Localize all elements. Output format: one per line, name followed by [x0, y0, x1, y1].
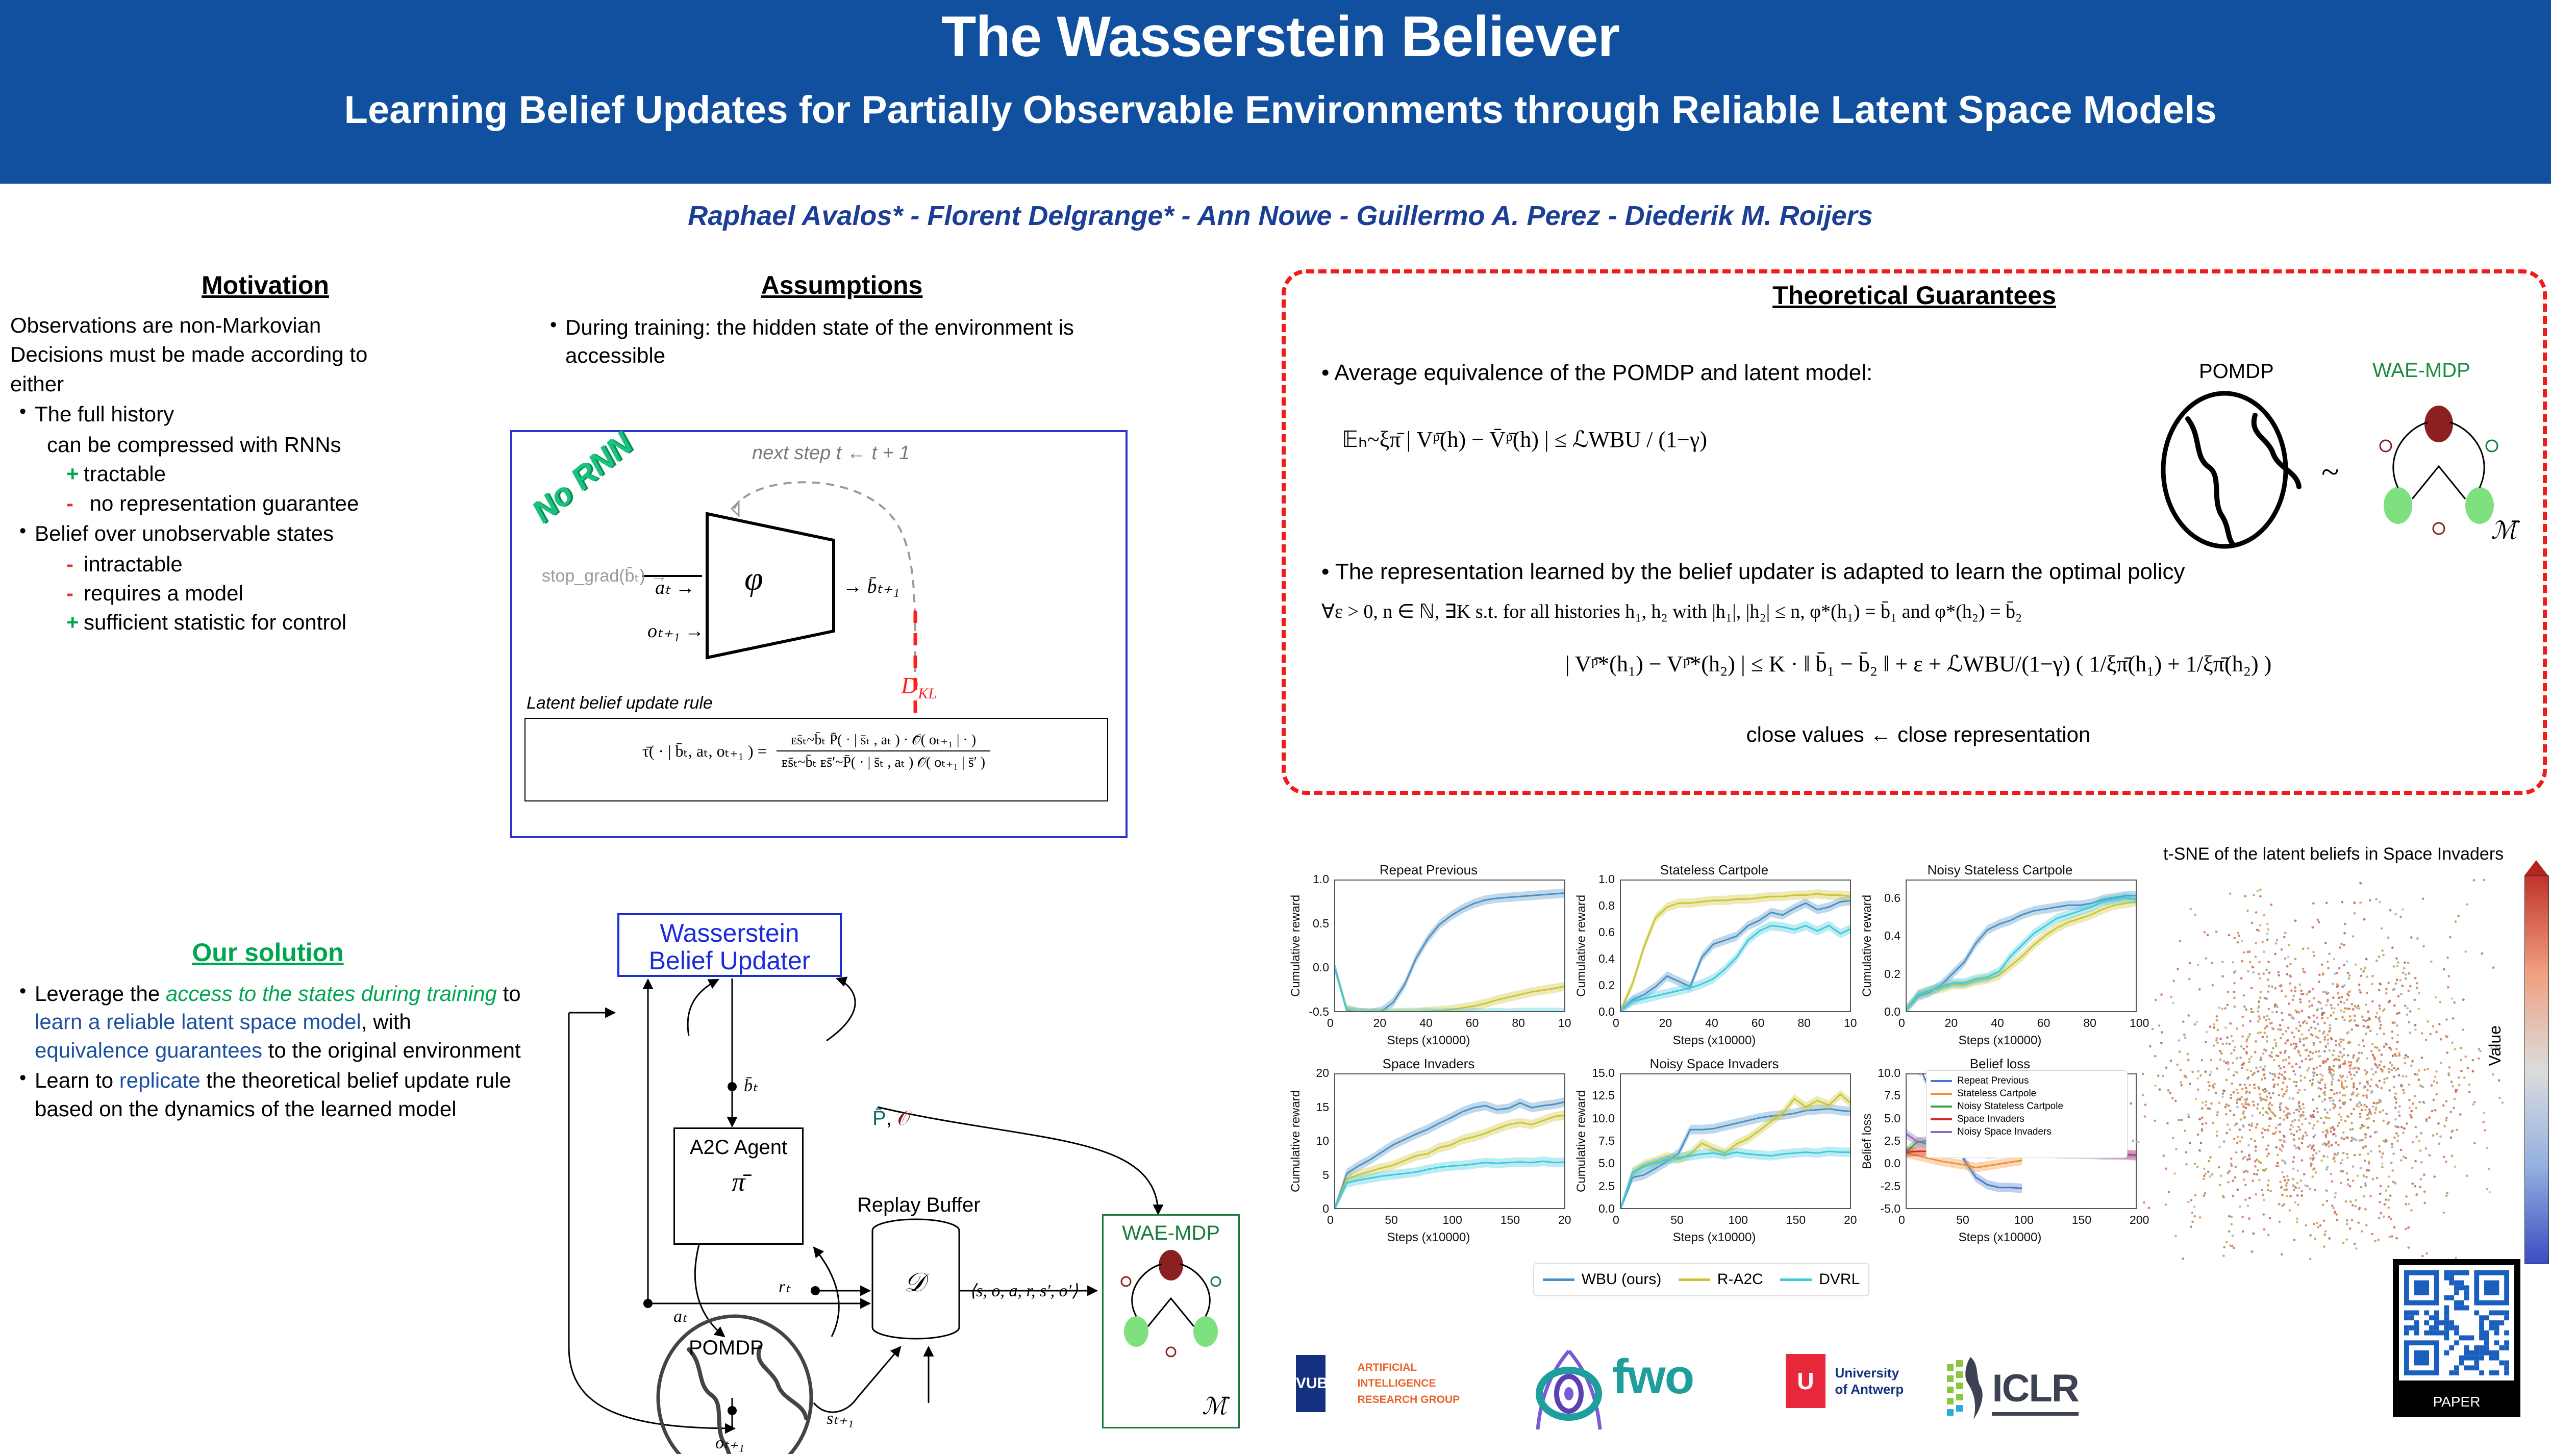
pomdp-label: POMDP — [689, 1337, 764, 1360]
theoretical-equation-3: | Vᵖ̄*(h₁) − Vᵖ̄*(h₂) | ≤ K · ‖ b̄₁ − b̄… — [1286, 651, 2551, 677]
y-axis-label: Cumulative reward — [1289, 1076, 1303, 1206]
reward-edge-label: rₜ — [779, 1276, 790, 1297]
motivation-pro-label: sufficient statistic for control — [84, 610, 346, 634]
plus-icon: + — [66, 608, 84, 636]
observation-input-label: oₜ₊₁ → — [647, 619, 704, 642]
dkl-symbol: D — [901, 672, 918, 698]
motivation-pro-tractable: +tractable — [10, 460, 520, 488]
y-axis-label: Cumulative reward — [1289, 883, 1303, 1009]
x-tick: 40 — [1419, 1016, 1433, 1030]
belief-output-label: → b̄ₜ₊₁ — [843, 575, 899, 598]
solution-text: to the original environment — [262, 1038, 521, 1062]
y-axis-label: Belief loss — [1860, 1076, 1874, 1206]
motivation-con-label: requires a model — [84, 581, 243, 605]
x-tick: 50 — [1956, 1213, 1969, 1227]
motivation-pro-label: tractable — [84, 462, 166, 486]
legend-item: Space Invaders — [1931, 1114, 2123, 1125]
a2c-label: A2C Agent — [690, 1136, 787, 1159]
legend-swatch — [1931, 1131, 1952, 1133]
x-tick: 50 — [1385, 1213, 1398, 1227]
legend-swatch — [1931, 1080, 1952, 1082]
buffer-symbol: 𝒟 — [904, 1268, 926, 1298]
x-tick: 150 — [2072, 1213, 2091, 1227]
x-tick: 20 — [1659, 1016, 1672, 1030]
legend-item: Noisy Space Invaders — [1931, 1126, 2123, 1138]
solution-emph-latent: learn a reliable latent space model — [35, 1010, 361, 1034]
x-tick: 150 — [1786, 1213, 1806, 1227]
motivation-item-label: Belief over unobservable states — [35, 521, 334, 545]
motivation-item-belief: Belief over unobservable states — [10, 519, 520, 547]
page-subtitle: Learning Belief Updates for Partially Ob… — [0, 88, 2551, 132]
legend-label: Stateless Cartpole — [1957, 1088, 2036, 1099]
legend-label: Repeat Previous — [1957, 1075, 2029, 1087]
chart-noisy-space-invaders: Noisy Space Invaders0501001502000.02.55.… — [1571, 1056, 1857, 1260]
uantwerp-line-2: of Antwerp — [1835, 1381, 1904, 1398]
minus-icon: - — [66, 579, 84, 607]
belief-update-rule-box: τ̄( · | b̄ₜ, aₜ, oₜ₊₁ ) = ᴇs̄ₜ~b̄ₜ P̄( ·… — [524, 718, 1108, 801]
legend-swatch — [1543, 1278, 1574, 1281]
dkl-subscript: KL — [918, 685, 937, 702]
x-axis-label: Steps (x10000) — [1286, 1034, 1571, 1048]
plot-area — [1334, 880, 1565, 1012]
theoretical-bullet-2: • The representation learned by the beli… — [1321, 559, 2185, 585]
legend-swatch — [1931, 1093, 1952, 1095]
logo-strip: VUB ARTIFICIAL INTELLIGENCE RESEARCH GRO… — [1275, 1337, 2296, 1439]
rule-numerator: ᴇs̄ₜ~b̄ₜ P̄( · | s̄ₜ , aₜ ) · 𝒪̄( oₜ₊₁ |… — [777, 731, 990, 751]
section-our-solution: Our solution Leverage the access to the … — [10, 938, 526, 1125]
dkl-label: DKL — [901, 672, 937, 702]
observation-edge-label: oₜ₊₁ — [715, 1433, 744, 1453]
x-tick: 60 — [1466, 1016, 1479, 1030]
solution-emph-replicate: replicate — [119, 1068, 201, 1092]
qr-code[interactable] — [2393, 1259, 2520, 1387]
belief-update-rule-equation: τ̄( · | b̄ₜ, aₜ, oₜ₊₁ ) = ᴇs̄ₜ~b̄ₜ P̄( ·… — [526, 731, 1107, 771]
chart-legend: WBU (ours) R-A2C DVRL — [1533, 1263, 1869, 1296]
section-theoretical-guarantees: Theoretical Guarantees • Average equival… — [1282, 269, 2547, 795]
legend-swatch — [1931, 1118, 1952, 1120]
motivation-con-label: intractable — [84, 552, 183, 576]
x-axis-label: Steps (x10000) — [1857, 1034, 2143, 1048]
assumptions-heading: Assumptions — [541, 270, 1143, 300]
x-tick: 60 — [1752, 1016, 1765, 1030]
motivation-heading: Motivation — [10, 270, 520, 300]
uantwerp-logo-text: University of Antwerp — [1835, 1365, 1904, 1398]
vub-logo-mark: VUB — [1296, 1355, 1325, 1412]
uantwerp-line-1: University — [1835, 1365, 1904, 1382]
solution-text: to — [497, 982, 521, 1006]
airg-line-3: RESEARCH GROUP — [1357, 1392, 1460, 1408]
chart-stateless-cartpole: Stateless Cartpole0204060801000.00.20.40… — [1571, 862, 1857, 1056]
university-of-antwerp-logo: U University of Antwerp — [1786, 1354, 1904, 1408]
x-tick: 20 — [1945, 1016, 1958, 1030]
stop-grad-label: stop_grad(b̄ₜ) → — [542, 566, 667, 586]
action-input-label: aₜ → — [655, 576, 695, 599]
theoretical-heading: Theoretical Guarantees — [1286, 281, 2543, 310]
qr-code-label: PAPER — [2393, 1387, 2520, 1417]
motivation-con-intractable: -intractable — [10, 550, 520, 578]
airg-line-1: ARTIFICIAL — [1357, 1360, 1460, 1376]
uantwerp-logo-mark: U — [1786, 1354, 1825, 1408]
chart-title: Noisy Stateless Cartpole — [1857, 862, 2143, 878]
motivation-item-label: The full history — [35, 402, 174, 426]
legend-swatch — [1931, 1106, 1952, 1108]
action-edge-label: aₜ — [673, 1306, 687, 1326]
solution-bullet-1: Leverage the access to the states during… — [10, 980, 526, 1064]
rule-denominator: ᴇs̄ₜ~b̄ₜ ᴇs̄′~P̄( · | s̄ₜ , aₜ ) 𝒪̄( oₜ₊… — [777, 751, 990, 771]
replay-buffer-label: Replay Buffer — [857, 1194, 981, 1217]
wbu-line-1: Wasserstein — [619, 919, 840, 947]
x-tick: 60 — [2037, 1016, 2050, 1030]
x-tick: 80 — [1797, 1016, 1811, 1030]
x-tick: 20 — [1373, 1016, 1387, 1030]
x-tick: 50 — [1670, 1213, 1684, 1227]
legend-swatch — [1679, 1278, 1710, 1281]
legend-item: Repeat Previous — [1931, 1075, 2123, 1087]
belief-loss-legend: Repeat Previous Stateless Cartpole Noisy… — [1926, 1070, 2128, 1158]
motivation-con-label: no representation guarantee — [84, 491, 359, 515]
plot-area — [1620, 880, 1851, 1012]
rule-lhs: τ̄( · | b̄ₜ, aₜ, oₜ₊₁ ) = — [642, 742, 767, 760]
theoretical-wae-mdp-label: WAE-MDP — [2372, 359, 2470, 382]
legend-swatch — [1780, 1278, 1812, 1281]
x-tick: 80 — [2083, 1016, 2096, 1030]
plus-icon: + — [66, 460, 84, 488]
y-axis-label: Cumulative reward — [1574, 883, 1589, 1009]
legend-label: Noisy Stateless Cartpole — [1957, 1101, 2063, 1112]
poster-canvas: The Wasserstein Believer Learning Belief… — [0, 0, 2551, 1456]
plot-area — [1906, 880, 2137, 1012]
section-assumptions: Assumptions During training: the hidden … — [541, 270, 1143, 372]
y-axis-label: Cumulative reward — [1574, 1076, 1589, 1206]
plot-area — [1620, 1073, 1851, 1209]
svg-text:~: ~ — [2321, 454, 2339, 490]
belief-edge-label: b̄ₜ — [744, 1075, 758, 1096]
theoretical-equation-2: ∀ε > 0, n ∈ ℕ, ∃K s.t. for all histories… — [1321, 600, 2022, 623]
motivation-line-1: Decisions must be made according to — [10, 340, 520, 368]
a2c-agent-box: A2C Agent π̄ — [673, 1127, 804, 1245]
iclr-logo-mark — [1944, 1355, 1990, 1421]
x-axis-label: Steps (x10000) — [1571, 1034, 1857, 1048]
airg-logo-text: ARTIFICIAL INTELLIGENCE RESEARCH GROUP — [1357, 1360, 1460, 1408]
colorbar-arrow-icon — [2524, 860, 2548, 875]
solution-emph-guarantees: equivalence guarantees — [35, 1038, 262, 1062]
legend-label: Noisy Space Invaders — [1957, 1126, 2052, 1138]
x-tick: 40 — [1705, 1016, 1718, 1030]
x-tick: 100 — [1729, 1213, 1748, 1227]
belief-update-diagram: No RNN next step t ← t + 1 stop_grad(b̄ₜ… — [510, 430, 1128, 838]
equivalence-illustration: ~ ℳ̄ — [2153, 386, 2531, 554]
solution-text: Leverage the — [35, 982, 166, 1006]
theoretical-pomdp-label: POMDP — [2199, 360, 2274, 383]
model-components-label: P̄, 𝒪̄ — [872, 1107, 910, 1130]
minus-icon: - — [66, 489, 84, 517]
page-title: The Wasserstein Believer — [0, 4, 2551, 70]
tsne-scatter-plot — [2128, 877, 2505, 1265]
motivation-pro-sufficient: +sufficient statistic for control — [10, 608, 520, 636]
theoretical-equation-1: 𝔼ₕ~ξπ̄ | Vᵖ̄(h) − V̄ᵖ̄(h) | ≤ ℒWBU / (1−… — [1342, 426, 1707, 453]
assumptions-bullet: During training: the hidden state of the… — [541, 313, 1143, 370]
theoretical-bullet-1: • Average equivalence of the POMDP and l… — [1321, 360, 1872, 386]
wbu-line-2: Belief Updater — [619, 947, 840, 974]
airg-line-2: INTELLIGENCE — [1357, 1375, 1460, 1392]
minus-icon: - — [66, 550, 84, 578]
x-axis-label: Steps (x10000) — [1286, 1231, 1571, 1245]
state-edge-label: sₜ₊₁ — [827, 1408, 854, 1428]
solution-heading: Our solution — [10, 938, 526, 967]
colorbar-label: Value — [2486, 1025, 2505, 1066]
iclr-logo-text: ICLR — [1992, 1367, 2078, 1416]
legend-item: Stateless Cartpole — [1931, 1088, 2123, 1099]
theoretical-conclusion: close values ← close representation — [1286, 722, 2551, 747]
author-list: Raphael Avalos* - Florent Delgrange* - A… — [0, 200, 2551, 232]
solution-text: , with — [361, 1010, 411, 1034]
chart-space-invaders: Space Invaders05010015020005101520Steps … — [1286, 1056, 1571, 1260]
x-tick: 40 — [1991, 1016, 2004, 1030]
transition-tuple-label: ⟨s, o, a, r, s′, o′⟩ — [969, 1281, 1078, 1301]
tsne-title: t-SNE of the latent beliefs in Space Inv… — [2163, 844, 2504, 864]
legend-label: DVRL — [1819, 1271, 1860, 1288]
m-bar-symbol: ℳ̄ — [1202, 1392, 1227, 1420]
tsne-colorbar — [2524, 875, 2549, 1264]
chart-noisy-stateless-cartpole: Noisy Stateless Cartpole0204060801000.00… — [1857, 862, 2143, 1056]
observation-kernel-symbol: 𝒪̄ — [897, 1107, 910, 1129]
iclr-logo: ICLR — [1944, 1355, 2079, 1421]
vub-airg-logo: VUB ARTIFICIAL INTELLIGENCE RESEARCH GRO… — [1296, 1355, 1460, 1412]
plot-area — [1334, 1073, 1565, 1209]
solution-text: Learn to — [35, 1068, 119, 1092]
legend-item: DVRL — [1780, 1271, 1860, 1288]
x-tick: 150 — [1500, 1213, 1520, 1227]
fwo-logo-text: fwo — [1612, 1349, 1693, 1404]
transition-kernel-symbol: P̄ — [872, 1107, 886, 1129]
fwo-logo: fwo — [1612, 1349, 1693, 1405]
legend-label: Space Invaders — [1957, 1114, 2024, 1125]
x-axis-label: Steps (x10000) — [1571, 1231, 1857, 1245]
motivation-line-2: either — [10, 370, 520, 398]
wae-mdp-box: WAE-MDP ℳ̄ — [1102, 1214, 1240, 1428]
wasserstein-belief-updater-box: Wasserstein Belief Updater — [617, 913, 842, 977]
legend-item: R-A2C — [1679, 1271, 1763, 1288]
ai-eye-logo — [1531, 1347, 1607, 1434]
motivation-con-no-guarantee: - no representation guarantee — [10, 489, 520, 517]
y-axis-label: Cumulative reward — [1860, 883, 1874, 1009]
x-tick: 100 — [1443, 1213, 1462, 1227]
chart-repeat-previous: Repeat Previous020406080100-0.50.00.51.0… — [1286, 862, 1571, 1056]
legend-label: WBU (ours) — [1582, 1271, 1662, 1288]
solution-bullet-2: Learn to replicate the theoretical belie… — [10, 1066, 526, 1123]
qr-code-pattern[interactable] — [2404, 1270, 2509, 1375]
section-motivation: Motivation Observations are non-Markovia… — [10, 270, 520, 638]
architecture-diagram: Wasserstein Belief Updater A2C Agent π̄ … — [520, 888, 1275, 1454]
legend-label: R-A2C — [1717, 1271, 1763, 1288]
phi-symbol: φ — [744, 560, 763, 598]
legend-item: WBU (ours) — [1543, 1271, 1662, 1288]
x-axis-label: Steps (x10000) — [1857, 1231, 2143, 1245]
motivation-item-full-history-cont: can be compressed with RNNs — [10, 431, 520, 459]
m-bar-symbol: ℳ̄ — [2491, 517, 2520, 544]
wae-mdp-label: WAE-MDP — [1104, 1222, 1238, 1245]
rule-caption: Latent belief update rule — [527, 693, 713, 713]
motivation-line-0: Observations are non-Markovian — [10, 311, 520, 339]
x-tick: 80 — [1512, 1016, 1525, 1030]
solution-emph-states: access to the states during training — [166, 982, 497, 1006]
legend-item: Noisy Stateless Cartpole — [1931, 1101, 2123, 1112]
motivation-item-full-history: The full history — [10, 400, 520, 428]
x-tick: 100 — [2014, 1213, 2034, 1227]
policy-symbol: π̄ — [675, 1167, 802, 1197]
motivation-con-requires-model: -requires a model — [10, 579, 520, 607]
